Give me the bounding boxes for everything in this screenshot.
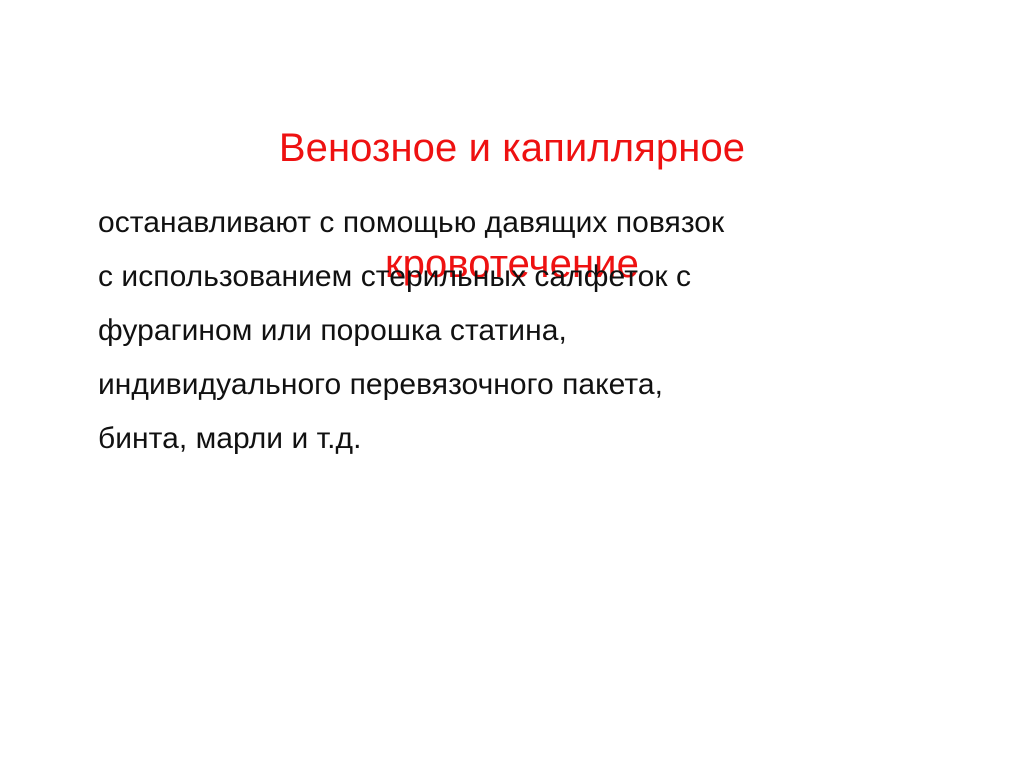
slide-body-line-2: с использованием стерильных салфеток с bbox=[98, 250, 978, 304]
slide-empty-area bbox=[0, 480, 1024, 767]
slide-body-line-1: останавливают с помощью давящих повязок bbox=[98, 196, 978, 250]
slide-body-line-3: фурагином или порошка статина, bbox=[98, 304, 978, 358]
presentation-slide: Венозное и капиллярное кровотечение оста… bbox=[0, 0, 1024, 767]
slide-body-line-4: индивидуального перевязочного пакета, bbox=[98, 358, 978, 412]
slide-title-line-1: Венозное и капиллярное bbox=[92, 119, 932, 177]
slide-body-line-5: бинта, марли и т.д. bbox=[98, 412, 978, 466]
slide-body-text: останавливают с помощью давящих повязок … bbox=[98, 196, 978, 466]
